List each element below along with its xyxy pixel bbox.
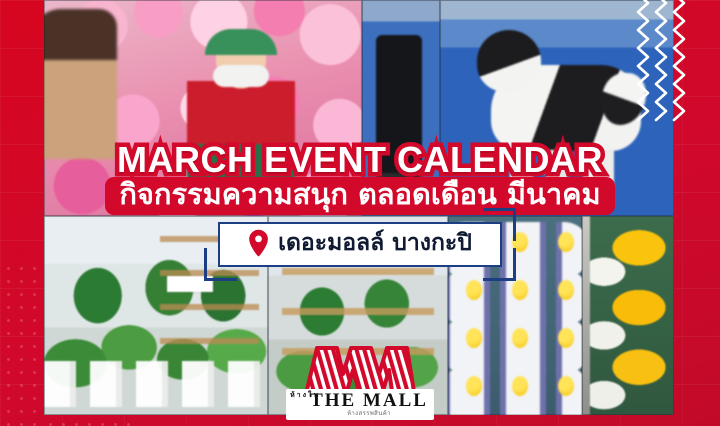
corner-bracket-icon-bottom-right bbox=[483, 248, 516, 281]
page-title: MARCH EVENT CALENDAR bbox=[117, 142, 603, 179]
location-text: เดอะมอลล์ บางกะปิ bbox=[278, 229, 472, 258]
subtitle-wrapper: กิจกรรมความสนุก ตลอดเดือน มีนาคม bbox=[0, 177, 720, 215]
the-mall-wordmark: ห้างใน THE MALL ห้างสรรพสินค้า bbox=[286, 389, 434, 420]
dot-grid-icon bbox=[2, 262, 44, 426]
title-block: MARCH EVENT CALENDAR กิจกรรมความสนุก ตลอ… bbox=[0, 142, 720, 215]
location-pin-icon bbox=[248, 229, 269, 257]
the-mall-wordmark-text: THE MALL bbox=[310, 390, 428, 411]
page-subtitle: กิจกรรมความสนุก ตลอดเดือน มีนาคม bbox=[105, 177, 614, 215]
the-mall-thai-prefix: ห้างใน bbox=[290, 392, 320, 399]
the-mall-logo: ห้างใน THE MALL ห้างสรรพสินค้า bbox=[285, 340, 435, 420]
corner-bracket-icon-top-right bbox=[483, 208, 516, 241]
corner-bracket-icon-bottom-left bbox=[204, 248, 237, 281]
location-banner-zone: เดอะมอลล์ บางกะปิ bbox=[0, 222, 720, 267]
march-event-calendar-poster: MARCH EVENT CALENDAR กิจกรรมความสนุก ตลอ… bbox=[0, 0, 720, 426]
location-banner: เดอะมอลล์ บางกะปิ bbox=[218, 222, 502, 267]
the-mall-sub-text: ห้างสรรพสินค้า bbox=[310, 411, 428, 418]
